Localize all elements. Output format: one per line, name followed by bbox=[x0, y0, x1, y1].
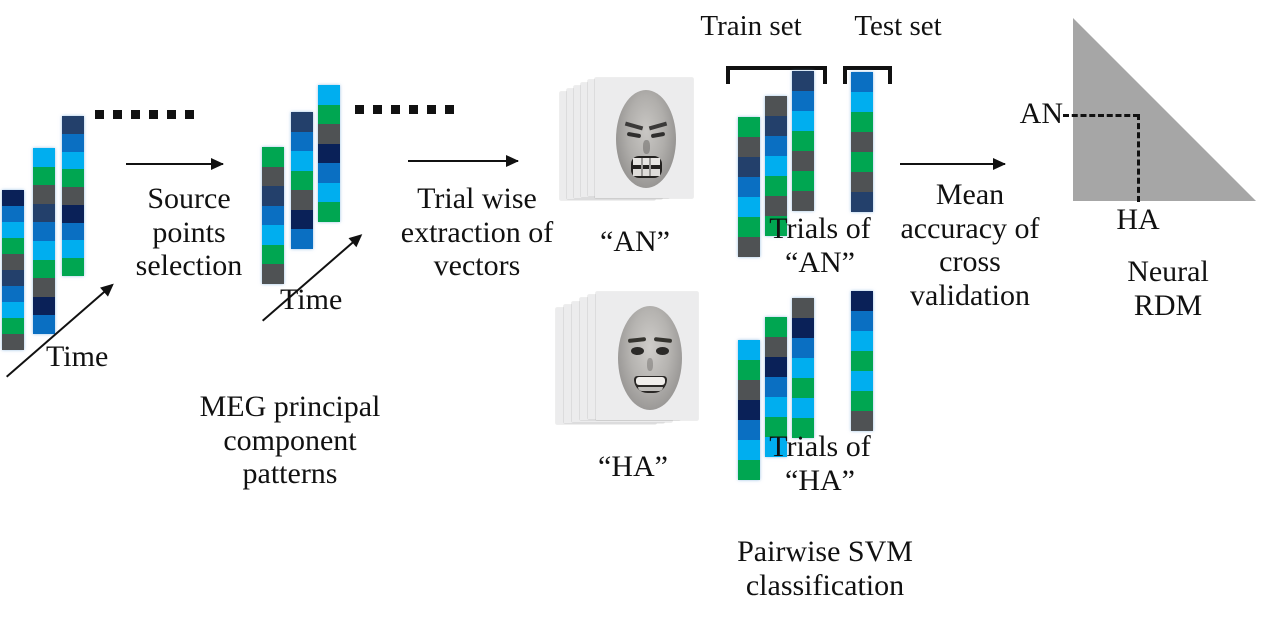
vector-cell bbox=[262, 245, 284, 265]
face-stack-ha bbox=[556, 292, 696, 442]
vector-cell bbox=[2, 286, 24, 302]
mean-accuracy-label: Mean accuracy of cross validation bbox=[895, 178, 1045, 312]
vector-cell bbox=[262, 225, 284, 245]
face-stack-an bbox=[560, 78, 695, 216]
vector-bar bbox=[62, 116, 84, 276]
source-points-selection-label: Source points selection bbox=[126, 182, 252, 283]
vector-cell bbox=[62, 223, 84, 241]
vector-cell bbox=[291, 190, 313, 210]
vector-cell bbox=[851, 351, 873, 371]
vector-cell bbox=[792, 378, 814, 398]
vector-cell bbox=[33, 278, 55, 297]
ellipsis-dots-icon-2 bbox=[355, 105, 454, 114]
vector-cell bbox=[62, 169, 84, 187]
vector-cell bbox=[262, 167, 284, 187]
vector-cell bbox=[765, 116, 787, 136]
vector-bar bbox=[792, 71, 814, 211]
vector-cell bbox=[318, 144, 340, 164]
vector-bar bbox=[792, 298, 814, 438]
vector-cell bbox=[851, 72, 873, 92]
vector-bar bbox=[851, 291, 873, 431]
rdm-col-label-ha: HA bbox=[1107, 203, 1169, 237]
vector-cell bbox=[33, 297, 55, 316]
vector-bar bbox=[851, 72, 873, 212]
vector-cell bbox=[318, 202, 340, 222]
vector-cell bbox=[2, 334, 24, 350]
vector-cell bbox=[62, 187, 84, 205]
right-arrow-icon-3 bbox=[900, 163, 1005, 165]
vector-cell bbox=[291, 132, 313, 152]
vector-cell bbox=[851, 192, 873, 212]
vector-cell bbox=[851, 371, 873, 391]
vector-cell bbox=[851, 411, 873, 431]
vector-cell bbox=[2, 206, 24, 222]
ellipsis-dots-icon-1 bbox=[95, 110, 194, 119]
vector-cell bbox=[33, 204, 55, 223]
vector-cell bbox=[2, 222, 24, 238]
vector-cell bbox=[2, 302, 24, 318]
vector-cell bbox=[33, 315, 55, 334]
vector-cell bbox=[738, 340, 760, 360]
vector-cell bbox=[851, 112, 873, 132]
vector-cell bbox=[318, 183, 340, 203]
vector-cell bbox=[792, 338, 814, 358]
vector-cell bbox=[262, 264, 284, 284]
vector-bar bbox=[318, 85, 340, 222]
vector-cell bbox=[765, 357, 787, 377]
pairwise-svm-label: Pairwise SVM classification bbox=[700, 535, 950, 602]
vector-cell bbox=[62, 240, 84, 258]
vector-cell bbox=[851, 172, 873, 192]
time-label-1: Time bbox=[46, 340, 136, 374]
vector-cell bbox=[792, 298, 814, 318]
vector-cell bbox=[2, 254, 24, 270]
vector-cell bbox=[738, 157, 760, 177]
vector-cell bbox=[62, 134, 84, 152]
time-label-2: Time bbox=[280, 283, 370, 317]
vector-cell bbox=[291, 210, 313, 230]
face-image-ha bbox=[618, 306, 682, 410]
vector-cell bbox=[2, 190, 24, 206]
vector-cell bbox=[765, 176, 787, 196]
train-set-label: Train set bbox=[678, 10, 824, 42]
vector-cell bbox=[262, 186, 284, 206]
rdm-row-label-an: AN bbox=[1003, 97, 1063, 131]
rdm-dashed-row-line bbox=[1063, 114, 1139, 117]
vector-cell bbox=[792, 398, 814, 418]
vector-cell bbox=[318, 163, 340, 183]
vector-bar bbox=[2, 190, 24, 350]
vector-cell bbox=[765, 156, 787, 176]
vector-cell bbox=[792, 191, 814, 211]
vector-cell bbox=[792, 111, 814, 131]
vector-cell bbox=[2, 238, 24, 254]
vector-cell bbox=[792, 131, 814, 151]
vector-cell bbox=[2, 318, 24, 334]
neural-rdm-triangle bbox=[1073, 18, 1256, 201]
vector-cell bbox=[62, 116, 84, 134]
vector-cell bbox=[851, 132, 873, 152]
vector-cell bbox=[62, 258, 84, 276]
face-label-an: “AN” bbox=[585, 225, 685, 259]
vector-cell bbox=[33, 167, 55, 186]
vector-cell bbox=[62, 205, 84, 223]
vector-cell bbox=[262, 206, 284, 226]
meg-principal-component-patterns-label: MEG principal component patterns bbox=[175, 390, 405, 491]
vector-cell bbox=[291, 171, 313, 191]
vector-cell bbox=[765, 397, 787, 417]
vector-cell bbox=[792, 71, 814, 91]
trial-wise-extraction-label: Trial wise extraction of vectors bbox=[392, 182, 562, 283]
face-image-an bbox=[616, 90, 676, 188]
vector-cell bbox=[851, 92, 873, 112]
vector-cell bbox=[738, 380, 760, 400]
vector-cell bbox=[851, 152, 873, 172]
vector-cell bbox=[738, 400, 760, 420]
vector-cell bbox=[33, 222, 55, 241]
trials-of-ha-label: Trials of “HA” bbox=[750, 430, 890, 497]
trials-of-an-label: Trials of “AN” bbox=[750, 212, 890, 279]
vector-bar bbox=[291, 112, 313, 249]
vector-cell bbox=[2, 270, 24, 286]
vector-cell bbox=[33, 241, 55, 260]
vector-cell bbox=[262, 147, 284, 167]
vector-cell bbox=[738, 117, 760, 137]
vector-cell bbox=[792, 171, 814, 191]
vector-cell bbox=[738, 177, 760, 197]
vector-cell bbox=[792, 318, 814, 338]
vector-cell bbox=[318, 85, 340, 105]
vector-cell bbox=[738, 360, 760, 380]
vector-cell bbox=[33, 260, 55, 279]
vector-bar bbox=[33, 148, 55, 334]
vector-cell bbox=[738, 137, 760, 157]
neural-rdm-label: Neural RDM bbox=[1098, 255, 1238, 322]
vector-cell bbox=[765, 136, 787, 156]
vector-cell bbox=[318, 105, 340, 125]
vector-cell bbox=[851, 331, 873, 351]
vector-cell bbox=[291, 151, 313, 171]
vector-bar bbox=[262, 147, 284, 284]
vector-cell bbox=[792, 91, 814, 111]
figure-canvas: Time Source points selection MEG princip… bbox=[0, 0, 1269, 626]
vector-cell bbox=[33, 148, 55, 167]
vector-cell bbox=[291, 229, 313, 249]
right-arrow-icon-2 bbox=[408, 160, 518, 162]
vector-cell bbox=[291, 112, 313, 132]
vector-cell bbox=[851, 391, 873, 411]
vector-cell bbox=[851, 311, 873, 331]
vector-cell bbox=[765, 377, 787, 397]
vector-cell bbox=[851, 291, 873, 311]
vector-cell bbox=[33, 185, 55, 204]
vector-cell bbox=[765, 317, 787, 337]
vector-cell bbox=[765, 96, 787, 116]
rdm-dashed-col-line bbox=[1137, 114, 1140, 202]
vector-cell bbox=[792, 151, 814, 171]
vector-cell bbox=[765, 337, 787, 357]
vector-cell bbox=[318, 124, 340, 144]
vector-cell bbox=[62, 152, 84, 170]
vector-cell bbox=[792, 358, 814, 378]
right-arrow-icon-1 bbox=[126, 163, 223, 165]
face-label-ha: “HA” bbox=[583, 450, 683, 484]
test-set-label: Test set bbox=[843, 10, 953, 42]
